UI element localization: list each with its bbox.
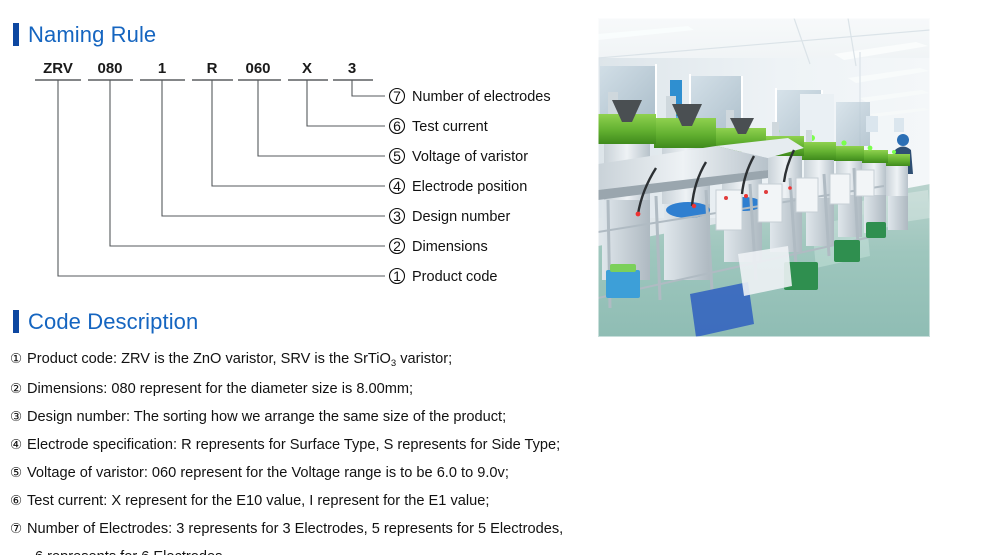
factory-production-line-photo xyxy=(598,18,930,337)
legend-label-5: Voltage of varistor xyxy=(412,149,528,165)
legend-group: 7 Number of electrodes 6 Test current 5 … xyxy=(390,88,551,285)
legend-label-1: Product code xyxy=(412,269,497,285)
leader-line-7 xyxy=(352,80,385,96)
legend-label-7: Number of electrodes xyxy=(412,89,551,105)
legend-number-5: 5 xyxy=(393,148,401,164)
code-token-0: ZRV xyxy=(43,60,73,77)
desc-item-7-continuation: 6 represents for 6 Electrodes. xyxy=(10,543,710,555)
legend-entry-1: 1 Product code xyxy=(390,268,498,285)
product-naming-page: Naming Rule ZRV 080 1 R 060 X 3 xyxy=(0,0,989,555)
heading-accent-bar xyxy=(13,310,19,333)
desc-continuation-text: 6 represents for 6 Electrodes. xyxy=(10,543,710,555)
leader-line-group xyxy=(58,80,385,276)
desc-item-4: ④ Electrode specification: R represents … xyxy=(10,431,710,459)
desc-text-4: Electrode specification: R represents fo… xyxy=(27,431,710,459)
legend-entry-5: 5 Voltage of varistor xyxy=(390,148,529,165)
leader-line-1 xyxy=(58,80,385,276)
legend-label-4: Electrode position xyxy=(412,179,527,195)
leader-line-3 xyxy=(162,80,385,216)
desc-item-2: ② Dimensions: 080 represent for the diam… xyxy=(10,375,710,403)
desc-text-1-subscript: 3 xyxy=(391,358,396,369)
desc-marker-3: ③ xyxy=(10,403,27,431)
legend-entry-2: 2 Dimensions xyxy=(390,238,488,255)
desc-text-1-before: Product code: ZRV is the ZnO varistor, S… xyxy=(27,351,391,367)
heading-accent-bar xyxy=(13,23,19,46)
code-token-4: 060 xyxy=(245,60,270,77)
legend-label-3: Design number xyxy=(412,209,510,225)
legend-number-4: 4 xyxy=(393,178,401,194)
legend-number-7: 7 xyxy=(393,88,401,104)
legend-entry-3: 3 Design number xyxy=(390,208,511,225)
code-description-title: Code Description xyxy=(28,311,198,333)
legend-entry-4: 4 Electrode position xyxy=(390,178,528,195)
desc-marker-6: ⑥ xyxy=(10,487,27,515)
desc-text-7: Number of Electrodes: 3 represents for 3… xyxy=(27,515,710,543)
code-description-list: ① Product code: ZRV is the ZnO varistor,… xyxy=(10,345,710,555)
desc-text-3: Design number: The sorting how we arrang… xyxy=(27,403,710,431)
legend-entry-7: 7 Number of electrodes xyxy=(390,88,551,105)
desc-text-5: Voltage of varistor: 060 represent for t… xyxy=(27,459,710,487)
code-description-heading: Code Description xyxy=(13,310,198,333)
legend-entry-6: 6 Test current xyxy=(390,118,488,135)
code-token-3: R xyxy=(207,60,218,77)
code-token-1: 080 xyxy=(97,60,122,77)
legend-number-2: 2 xyxy=(393,238,401,254)
code-token-2: 1 xyxy=(158,60,166,77)
photo-partition-box xyxy=(800,94,834,146)
desc-item-6: ⑥ Test current: X represent for the E10 … xyxy=(10,487,710,515)
legend-label-2: Dimensions xyxy=(412,239,488,255)
legend-number-1: 1 xyxy=(393,268,401,284)
leader-line-6 xyxy=(307,80,385,126)
code-token-group: ZRV 080 1 R 060 X 3 xyxy=(35,60,373,80)
code-token-6: 3 xyxy=(348,60,356,77)
naming-rule-diagram: ZRV 080 1 R 060 X 3 xyxy=(0,56,600,296)
naming-rule-title: Naming Rule xyxy=(28,24,156,46)
desc-text-6: Test current: X represent for the E10 va… xyxy=(27,487,710,515)
desc-marker-1: ① xyxy=(10,345,27,373)
desc-item-3: ③ Design number: The sorting how we arra… xyxy=(10,403,710,431)
leader-line-5 xyxy=(258,80,385,156)
desc-marker-4: ④ xyxy=(10,431,27,459)
leader-line-2 xyxy=(110,80,385,246)
legend-number-6: 6 xyxy=(393,118,401,134)
code-token-5: X xyxy=(302,60,312,77)
desc-item-7: ⑦ Number of Electrodes: 3 represents for… xyxy=(10,515,710,543)
desc-item-5: ⑤ Voltage of varistor: 060 represent for… xyxy=(10,459,710,487)
desc-marker-5: ⑤ xyxy=(10,459,27,487)
desc-marker-2: ② xyxy=(10,375,27,403)
desc-text-1-after: varistor; xyxy=(396,351,452,367)
legend-number-3: 3 xyxy=(393,208,401,224)
desc-text-2: Dimensions: 080 represent for the diamet… xyxy=(27,375,710,403)
naming-rule-heading: Naming Rule xyxy=(13,23,156,46)
desc-marker-7: ⑦ xyxy=(10,515,27,543)
desc-text-1: Product code: ZRV is the ZnO varistor, S… xyxy=(27,345,710,375)
desc-item-1: ① Product code: ZRV is the ZnO varistor,… xyxy=(10,345,710,375)
legend-label-6: Test current xyxy=(412,119,488,135)
